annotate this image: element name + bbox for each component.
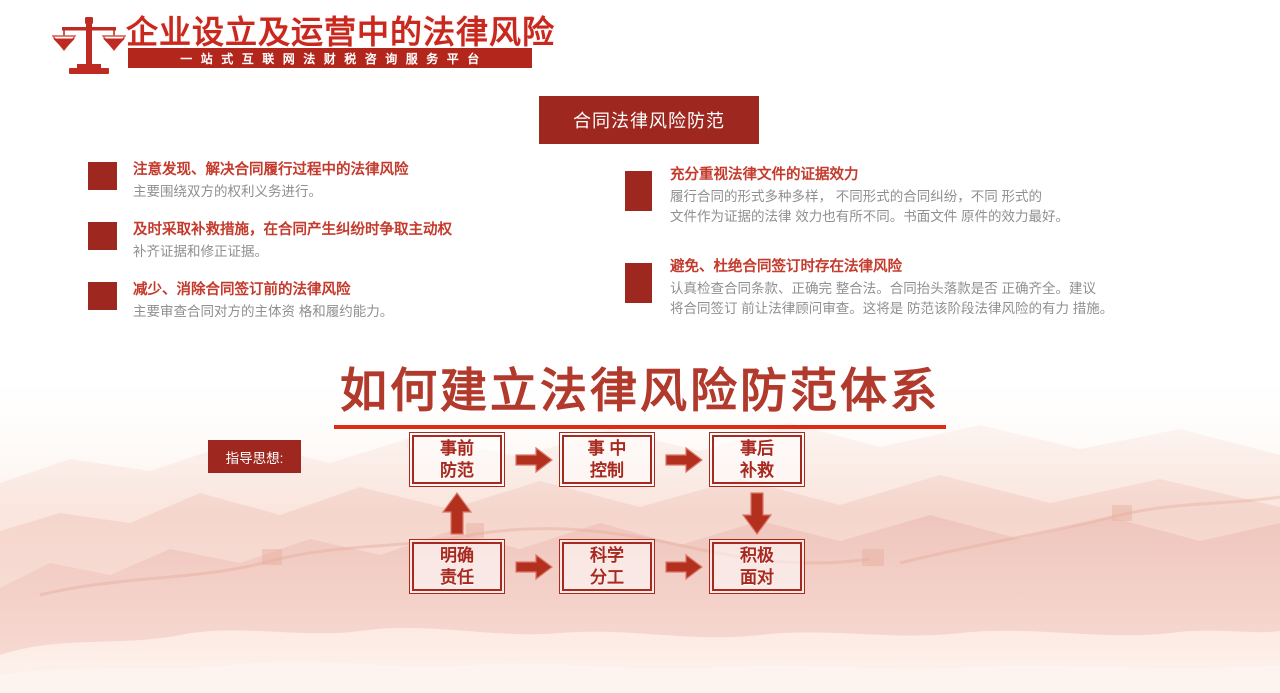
arrow-right-icon	[514, 553, 554, 581]
page-header: 企业设立及运营中的法律风险 一站式互联网法财税咨询服务平台	[0, 0, 1280, 88]
process-flowchart: 事前防范 事 中控制 事后补救 明确责任 科学分工 积极面对	[0, 425, 1280, 625]
arrow-right-icon	[664, 553, 704, 581]
page-title: 企业设立及运营中的法律风险	[126, 7, 555, 53]
bullet-heading: 减少、消除合同签订前的法律风险	[133, 280, 588, 300]
flow-node-n3: 事后补救	[709, 432, 805, 487]
left-bullet-column: 注意发现、解决合同履行过程中的法律风险 主要围绕双方的权利义务进行。 及时采取补…	[88, 160, 588, 340]
arrow-down-icon	[741, 491, 773, 536]
list-item: 充分重视法律文件的证据效力 履行合同的形式多种多样， 不同形式的合同纠纷，不同 …	[625, 165, 1205, 227]
right-bullet-column: 充分重视法律文件的证据效力 履行合同的形式多种多样， 不同形式的合同纠纷，不同 …	[625, 165, 1205, 349]
header-subtitle-banner: 一站式互联网法财税咨询服务平台	[128, 48, 532, 68]
arrow-right-icon	[514, 446, 554, 474]
bullet-heading: 避免、杜绝合同签订时存在法律风险	[670, 257, 1205, 277]
list-item: 注意发现、解决合同履行过程中的法律风险 主要围绕双方的权利义务进行。	[88, 160, 588, 202]
bullet-body: 认真检查合同条款、正确完 整合法。合同抬头落款是否 正确齐全。建议 将合同签订 …	[670, 279, 1205, 319]
flow-node-n2: 事 中控制	[559, 432, 655, 487]
bullet-square-icon	[88, 162, 117, 190]
bullet-square-icon	[625, 263, 652, 303]
bullet-square-icon	[625, 171, 652, 211]
section-title-chip: 合同法律风险防范	[539, 96, 759, 144]
bullet-body: 主要审查合同对方的主体资 格和履约能力。	[133, 302, 588, 322]
bullet-square-icon	[88, 222, 117, 250]
list-item: 减少、消除合同签订前的法律风险 主要审查合同对方的主体资 格和履约能力。	[88, 280, 588, 322]
flow-node-n5: 科学分工	[559, 539, 655, 594]
list-item: 避免、杜绝合同签订时存在法律风险 认真检查合同条款、正确完 整合法。合同抬头落款…	[625, 257, 1205, 319]
bullet-square-icon	[88, 282, 117, 310]
bullet-heading: 及时采取补救措施，在合同产生纠纷时争取主动权	[133, 220, 588, 240]
flow-node-n6: 积极面对	[709, 539, 805, 594]
main-heading: 如何建立法律风险防范体系	[0, 352, 1280, 429]
scales-of-justice-icon	[52, 14, 126, 76]
bullet-body: 补齐证据和修正证据。	[133, 242, 588, 262]
arrow-up-icon	[441, 491, 473, 536]
bullet-heading: 注意发现、解决合同履行过程中的法律风险	[133, 160, 588, 180]
flow-node-n1: 事前防范	[409, 432, 505, 487]
bullet-heading: 充分重视法律文件的证据效力	[670, 165, 1205, 185]
bullet-body: 履行合同的形式多种多样， 不同形式的合同纠纷，不同 形式的 文件作为证据的法律 …	[670, 187, 1205, 227]
flow-node-n4: 明确责任	[409, 539, 505, 594]
main-heading-text: 如何建立法律风险防范体系	[334, 352, 946, 429]
list-item: 及时采取补救措施，在合同产生纠纷时争取主动权 补齐证据和修正证据。	[88, 220, 588, 262]
bullet-body: 主要围绕双方的权利义务进行。	[133, 182, 588, 202]
arrow-right-icon	[664, 446, 704, 474]
